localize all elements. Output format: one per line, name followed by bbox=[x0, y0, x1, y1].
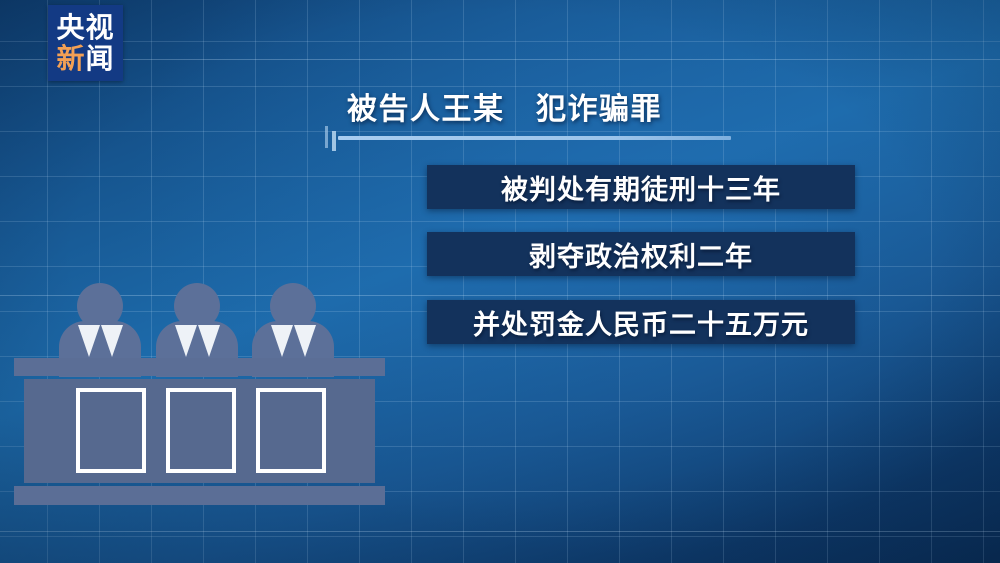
judge-collar-right-icon bbox=[101, 325, 123, 357]
verdict-banner-text: 并处罚金人民币二十五万元 bbox=[473, 303, 809, 342]
bench-front-panel bbox=[76, 388, 146, 473]
courtroom-illustration bbox=[0, 0, 420, 563]
bench-top-rail bbox=[14, 358, 385, 376]
judge-collar-left-icon bbox=[78, 325, 100, 357]
judge-collar-left-icon bbox=[271, 325, 293, 357]
verdict-banner: 剥夺政治权利二年 bbox=[427, 232, 855, 276]
judge-collar-left-icon bbox=[175, 325, 197, 357]
verdict-banner: 并处罚金人民币二十五万元 bbox=[427, 300, 855, 344]
judge-collar-right-icon bbox=[294, 325, 316, 357]
bench-front-panel bbox=[166, 388, 236, 473]
judge-collar-right-icon bbox=[198, 325, 220, 357]
verdict-banner-text: 剥夺政治权利二年 bbox=[529, 235, 753, 274]
verdict-banner: 被判处有期徒刑十三年 bbox=[427, 165, 855, 209]
verdict-banner-text: 被判处有期徒刑十三年 bbox=[501, 168, 781, 207]
bench-bottom-rail bbox=[14, 486, 385, 505]
bench-front-panel bbox=[256, 388, 326, 473]
